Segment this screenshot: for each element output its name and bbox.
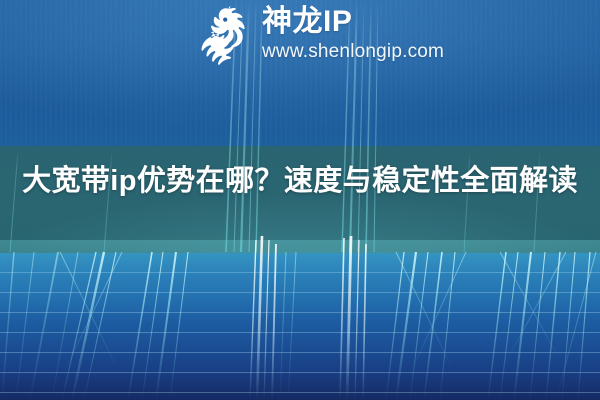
brand-url: www.shenlongip.com bbox=[262, 40, 444, 64]
brand-logo: 神龙IP www.shenlongip.com bbox=[188, 4, 468, 74]
brand-text-block: 神龙IP www.shenlongip.com bbox=[262, 4, 444, 64]
headline-title: 大宽带ip优势在哪？速度与稳定性全面解读 bbox=[0, 160, 600, 203]
brand-name-cn: 神龙IP bbox=[262, 6, 444, 38]
background-teal-glow bbox=[0, 240, 600, 320]
banner-canvas: 神龙IP www.shenlongip.com 大宽带ip优势在哪？速度与稳定性… bbox=[0, 0, 600, 400]
dragon-logo-icon bbox=[188, 5, 254, 71]
